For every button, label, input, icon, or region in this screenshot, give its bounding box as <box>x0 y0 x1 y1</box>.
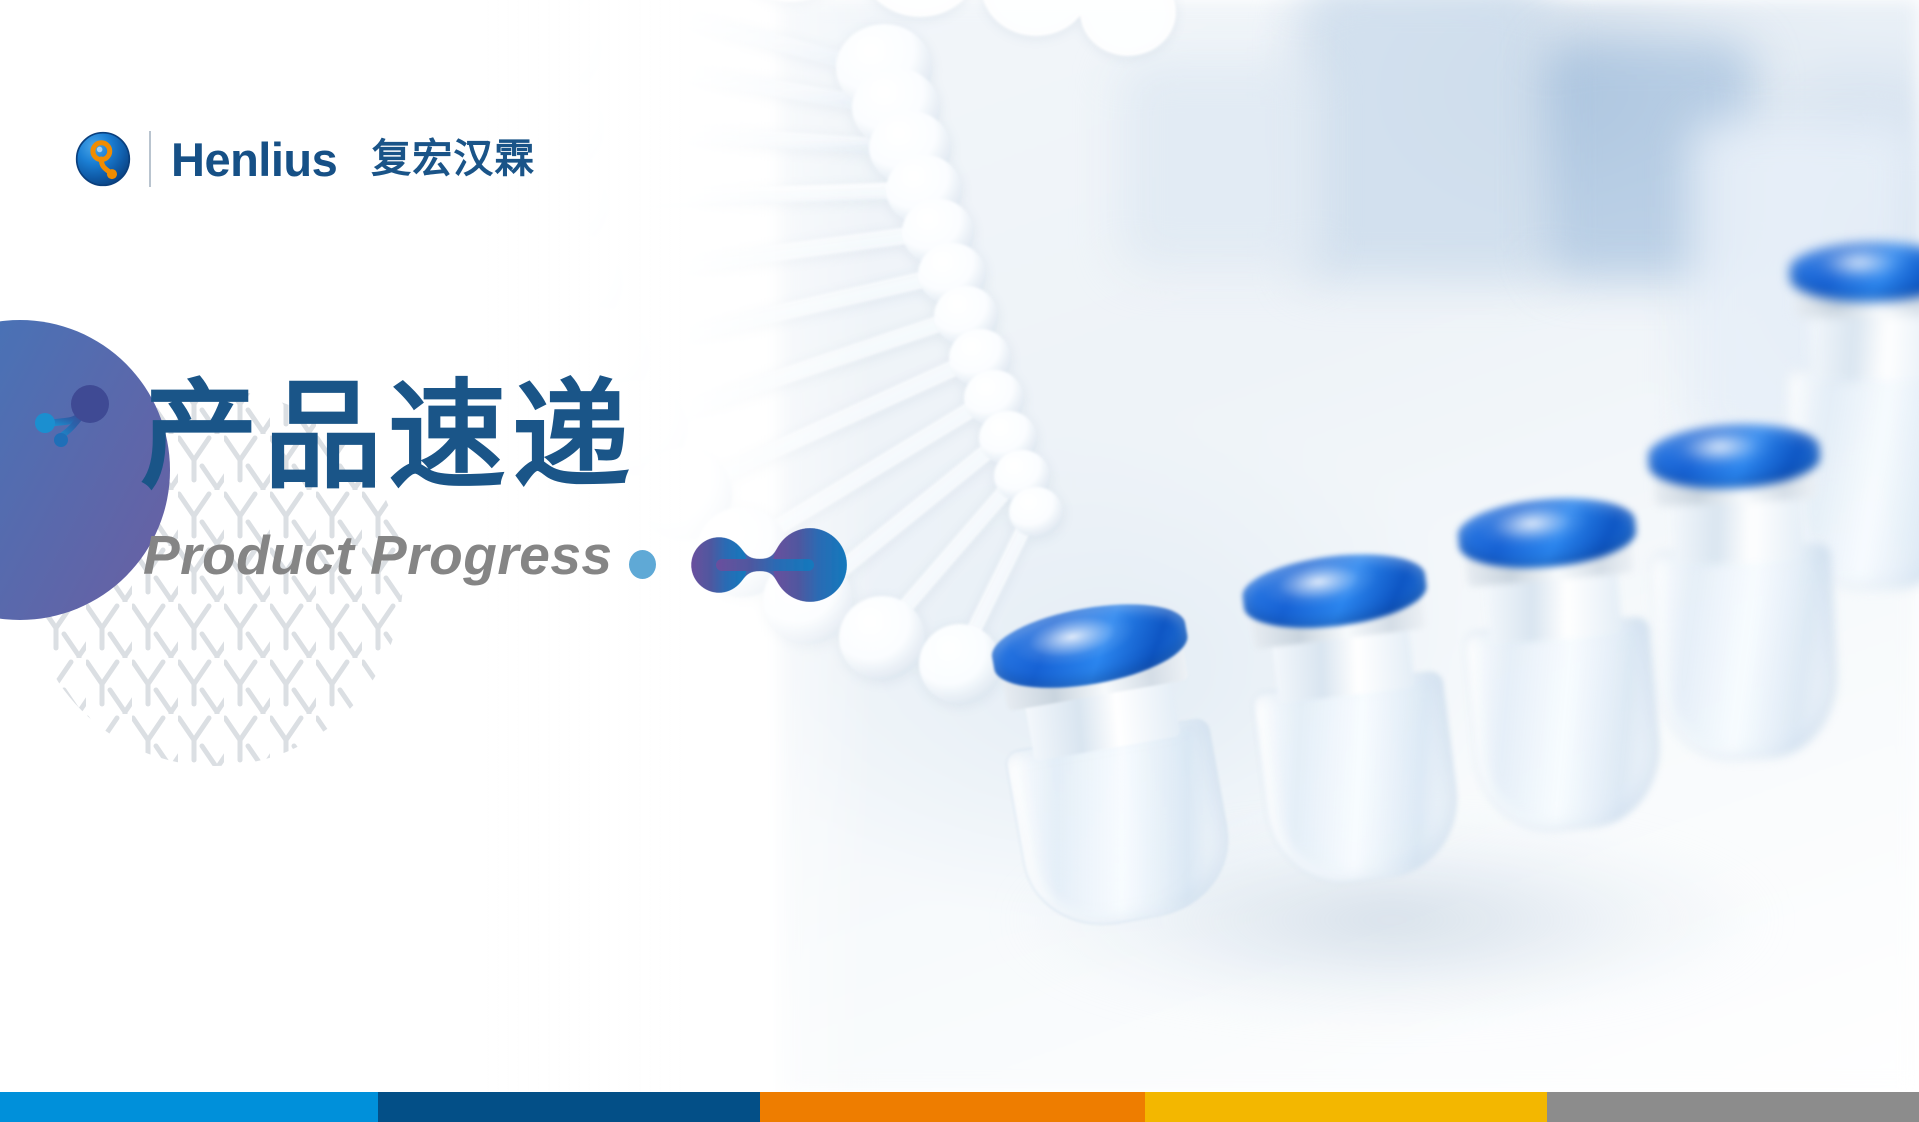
page-title-cn: 产品速递 <box>140 378 636 496</box>
bar-segment-grey <box>1547 1092 1919 1122</box>
vial-cap <box>1788 241 1919 304</box>
page-subtitle-en: Product Progress <box>143 528 613 583</box>
vial-4 <box>1642 416 1840 765</box>
vial-2 <box>1237 551 1465 892</box>
molecule-icon <box>28 380 138 470</box>
vial-body <box>1462 616 1666 839</box>
brand-logo[interactable]: Henlius 复宏汉霖 <box>75 128 535 190</box>
henlius-molecule-logo-icon <box>75 131 131 187</box>
vial-3 <box>1452 493 1665 838</box>
bar-segment-navy <box>378 1092 760 1122</box>
bar-segment-cyan-blue <box>0 1092 378 1122</box>
logo-divider <box>149 131 151 187</box>
vial-body <box>1649 542 1842 764</box>
brand-name-en: Henlius <box>171 136 337 183</box>
brand-color-bar <box>0 1092 1919 1122</box>
bar-segment-orange <box>760 1092 1145 1122</box>
bar-segment-amber <box>1145 1092 1547 1122</box>
brand-name-cn: 复宏汉霖 <box>371 139 535 179</box>
title-slide: Henlius 复宏汉霖 产品速递 Product Progress <box>0 0 1919 1122</box>
background-glassware <box>1300 0 1550 280</box>
molecule-dumbbell-icon <box>688 522 848 608</box>
accent-dot <box>629 550 656 579</box>
